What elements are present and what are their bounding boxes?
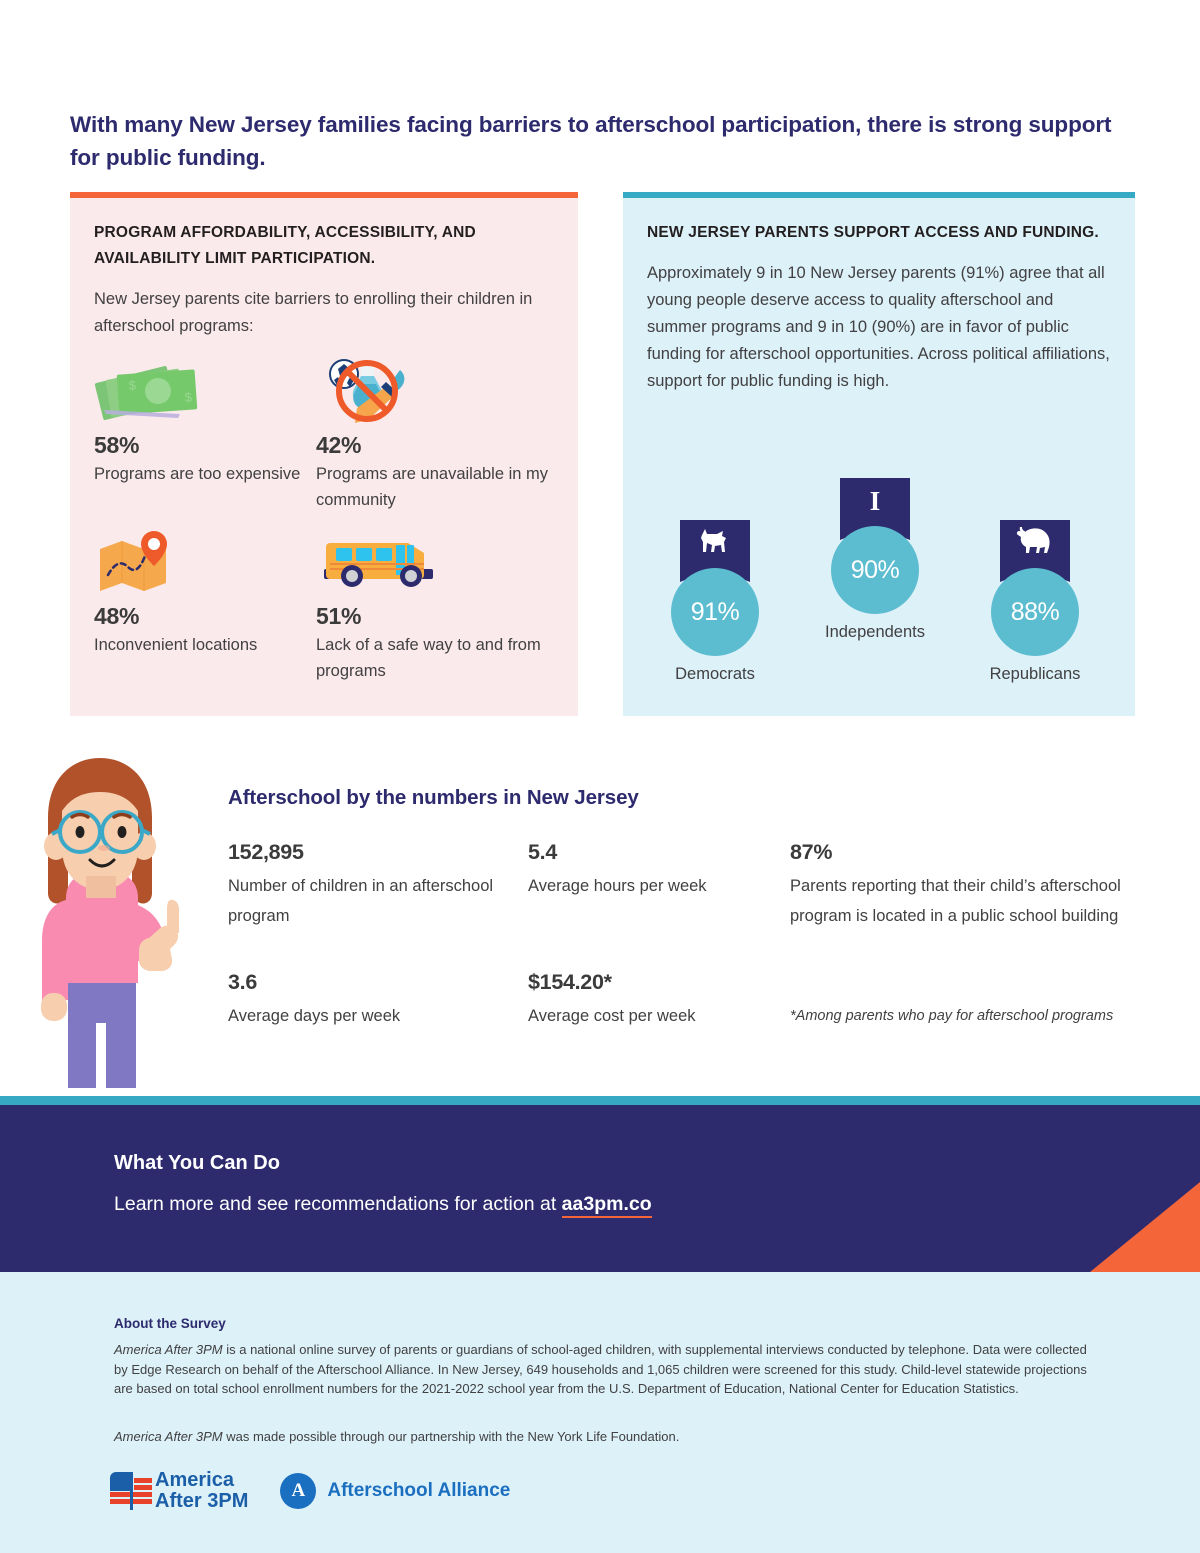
- footer-title: About the Survey: [114, 1316, 226, 1331]
- stat-value: 58%: [94, 432, 316, 459]
- infographic-page: With many New Jersey families facing bar…: [0, 0, 1200, 1553]
- badge-value: 91%: [671, 568, 759, 656]
- cta-link[interactable]: aa3pm.co: [562, 1193, 652, 1218]
- orange-corner-triangle: [1090, 1182, 1200, 1272]
- support-card-intro: Approximately 9 in 10 New Jersey parents…: [647, 260, 1111, 395]
- school-bus-icon: [316, 529, 554, 595]
- girl-illustration: [18, 748, 213, 1098]
- number-value: $154.20*: [528, 970, 788, 995]
- number-value: 3.6: [228, 970, 518, 995]
- elephant-icon: [1016, 526, 1054, 561]
- stat-item-money: $ $ 58% Programs are too expensive: [94, 358, 316, 513]
- no-activities-icon: [316, 358, 554, 424]
- cta-title: What You Can Do: [114, 1152, 280, 1175]
- cta-text: Learn more and see recommendations for a…: [114, 1193, 562, 1215]
- stat-label: Inconvenient locations: [94, 632, 316, 658]
- stat-value: 51%: [316, 603, 554, 630]
- stat-label: Lack of a safe way to and from programs: [316, 632, 554, 684]
- badge-label: Republicans: [965, 665, 1105, 684]
- stat-value: 42%: [316, 432, 554, 459]
- footer-p1-italic: America After 3PM: [114, 1342, 223, 1357]
- number-item-school-building: 87% Parents reporting that their child’s…: [790, 840, 1160, 931]
- badge-label: Independents: [805, 623, 945, 642]
- afterschool-alliance-logo: A Afterschool Alliance: [280, 1473, 510, 1509]
- badge-democrats: 91% Democrats: [645, 520, 785, 684]
- barriers-stat-grid: $ $ 58% Programs are too expensive: [94, 358, 554, 684]
- footer-paragraph-2: America After 3PM was made possible thro…: [114, 1427, 1099, 1447]
- number-label: Average hours per week: [528, 871, 778, 901]
- barriers-card: PROGRAM AFFORDABILITY, ACCESSIBILITY, AN…: [70, 192, 578, 716]
- footer-paragraph-1: America After 3PM is a national online s…: [114, 1340, 1099, 1399]
- stat-value: 48%: [94, 603, 316, 630]
- footer-logos: America After 3PM A Afterschool Alliance: [110, 1470, 510, 1512]
- barriers-card-title: PROGRAM AFFORDABILITY, ACCESSIBILITY, AN…: [94, 220, 554, 272]
- number-label: Parents reporting that their child’s aft…: [790, 871, 1160, 931]
- stat-label: Programs are too expensive: [94, 461, 316, 487]
- stat-item-transport: 51% Lack of a safe way to and from progr…: [316, 529, 554, 684]
- number-value: 152,895: [228, 840, 518, 865]
- number-item-days: 3.6 Average days per week: [228, 970, 518, 1031]
- stat-label: Programs are unavailable in my community: [316, 461, 554, 513]
- logo-text: America After 3PM: [155, 1470, 248, 1512]
- number-label: Number of children in an afterschool pro…: [228, 871, 518, 931]
- america-after-3pm-logo: America After 3PM: [110, 1470, 248, 1512]
- badge-label: Democrats: [645, 665, 785, 684]
- number-value: 87%: [790, 840, 1160, 865]
- stat-item-locations: 48% Inconvenient locations: [94, 529, 316, 684]
- badge-independents: I 90% Independents: [805, 478, 945, 642]
- numbers-section-title: Afterschool by the numbers in New Jersey: [228, 786, 639, 810]
- map-pin-icon: [94, 529, 316, 595]
- logo-line-1: America: [155, 1469, 234, 1491]
- teal-divider-band: [0, 1096, 1200, 1105]
- donkey-icon: [697, 526, 733, 561]
- badge-value: 88%: [991, 568, 1079, 656]
- cta-band: [0, 1105, 1200, 1272]
- number-label: Average cost per week: [528, 1001, 788, 1031]
- badge-value: 90%: [831, 526, 919, 614]
- letter-i-icon: I: [870, 484, 881, 518]
- number-item-hours: 5.4 Average hours per week: [528, 840, 778, 901]
- badge-republicans: 88% Republicans: [965, 520, 1105, 684]
- footer-p2-italic: America After 3PM: [114, 1429, 223, 1444]
- flag-icon: [110, 1472, 152, 1510]
- barriers-card-intro: New Jersey parents cite barriers to enro…: [94, 286, 554, 340]
- support-card-title: NEW JERSEY PARENTS SUPPORT ACCESS AND FU…: [647, 220, 1111, 246]
- logo-line-2: After 3PM: [155, 1490, 248, 1512]
- numbers-footnote: *Among parents who pay for afterschool p…: [790, 1008, 1170, 1024]
- footer-p1-text: is a national online survey of parents o…: [114, 1342, 1087, 1396]
- number-item-cost: $154.20* Average cost per week: [528, 970, 788, 1031]
- stat-item-unavailable: 42% Programs are unavailable in my commu…: [316, 358, 554, 513]
- number-value: 5.4: [528, 840, 778, 865]
- alliance-mark-icon: A: [280, 1473, 316, 1509]
- footer-p2-text: was made possible through our partnershi…: [223, 1429, 680, 1444]
- cta-subtitle: Learn more and see recommendations for a…: [114, 1193, 652, 1216]
- alliance-logo-text: Afterschool Alliance: [327, 1480, 510, 1502]
- money-icon: $ $: [94, 358, 316, 424]
- party-support-badges: 91% Democrats I 90% Independents: [645, 478, 1115, 693]
- number-item-children: 152,895 Number of children in an aftersc…: [228, 840, 518, 931]
- page-headline: With many New Jersey families facing bar…: [70, 108, 1135, 174]
- number-label: Average days per week: [228, 1001, 518, 1031]
